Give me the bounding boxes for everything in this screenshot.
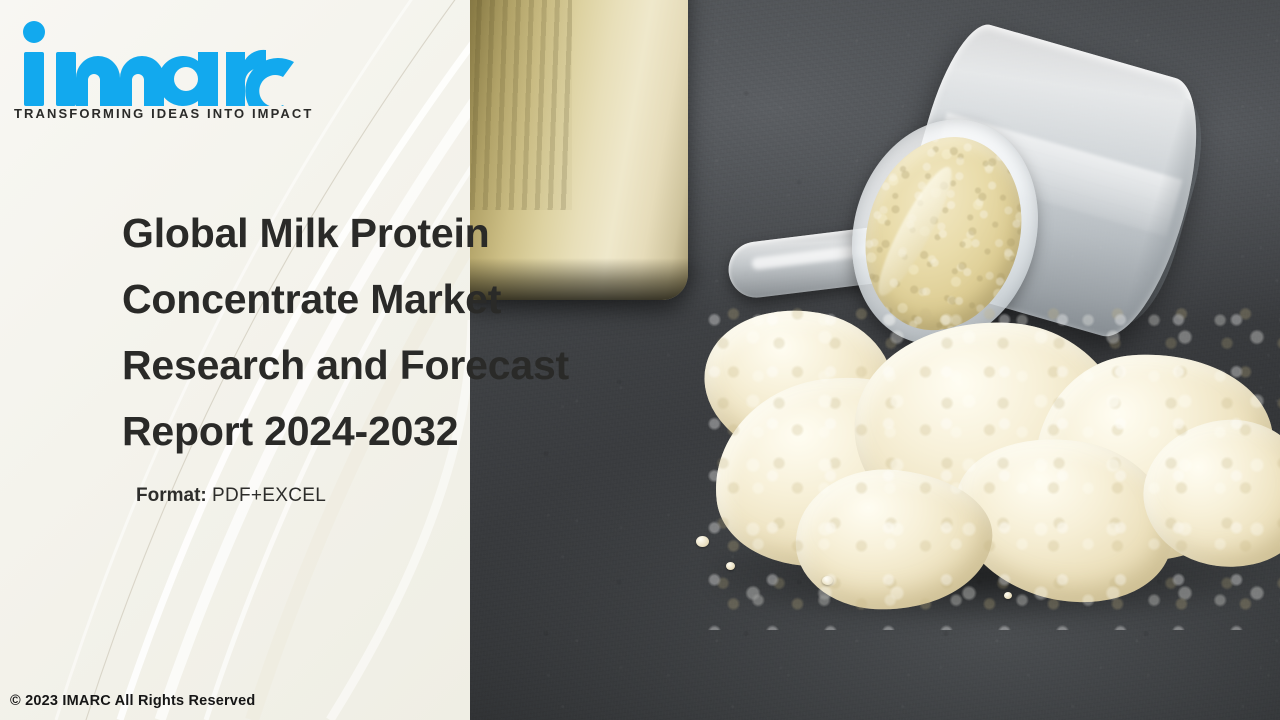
format-value: PDF+EXCEL <box>212 485 326 506</box>
report-title: Global Milk Protein Concentrate Market R… <box>122 200 682 464</box>
title-line-1: Global Milk Protein <box>122 200 682 266</box>
title-line-2: Concentrate Market <box>122 266 682 332</box>
report-format: Format: PDF+EXCEL <box>136 485 326 507</box>
brand-tagline: TRANSFORMING IDEAS INTO IMPACT <box>14 106 313 121</box>
jar-label-stripes <box>452 0 572 210</box>
imarc-wordmark-icon <box>12 14 294 106</box>
powder-crumb <box>1004 592 1012 599</box>
powder-crumb <box>822 576 833 585</box>
powder-crumb <box>696 536 709 547</box>
report-cover-slide: TRANSFORMING IDEAS INTO IMPACT Global Mi… <box>0 0 1280 720</box>
format-label: Format: <box>136 485 207 506</box>
powder-crumb <box>726 562 735 570</box>
imarc-logo[interactable] <box>12 14 294 106</box>
powder-mound <box>704 300 1280 630</box>
title-line-3: Research and Forecast <box>122 332 682 398</box>
copyright-notice: © 2023 IMARC All Rights Reserved <box>10 693 255 709</box>
title-line-4: Report 2024-2032 <box>122 398 682 464</box>
